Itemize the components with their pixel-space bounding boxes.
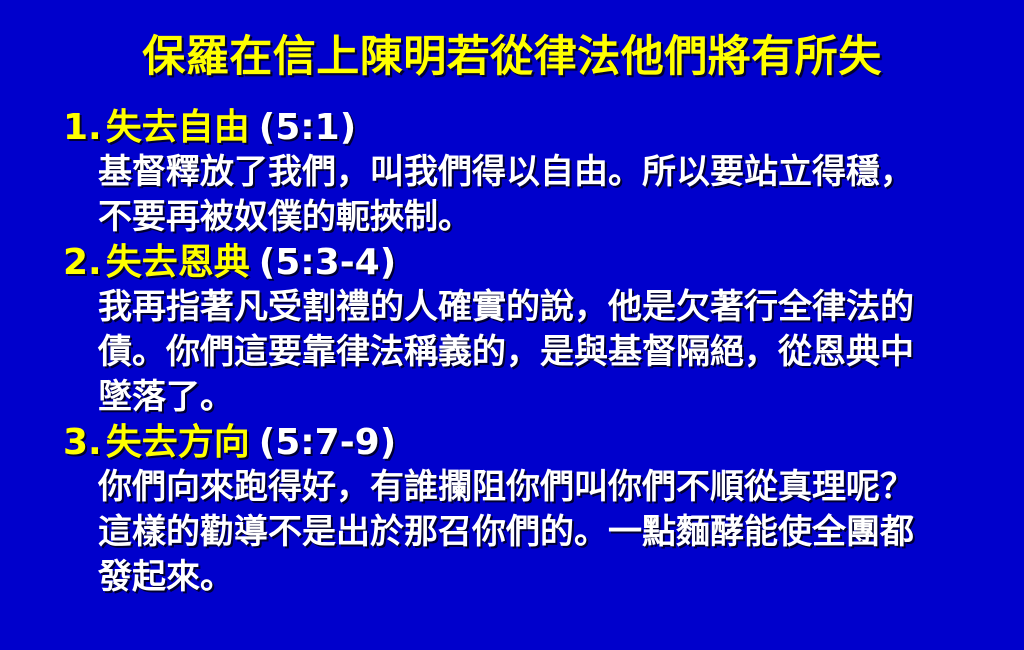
body-line: 基督釋放了我們，叫我們得以自由。所以要站立得穩， xyxy=(98,150,978,195)
body-line: 我再指著凡受割禮的人確實的說，他是欠著行全律法的 xyxy=(98,285,978,330)
point-heading: 3.失去方向(5:7-9) xyxy=(0,420,1024,465)
list-item: 3.失去方向(5:7-9) 你們向來跑得好，有誰攔阻你們叫你們不順從真理呢？ 這… xyxy=(0,420,1024,600)
points-list: 1.失去自由(5:1) 基督釋放了我們，叫我們得以自由。所以要站立得穩， 不要再… xyxy=(0,105,1024,600)
list-item: 1.失去自由(5:1) 基督釋放了我們，叫我們得以自由。所以要站立得穩， 不要再… xyxy=(0,105,1024,240)
point-reference: (5:3-4) xyxy=(259,242,396,283)
point-body: 你們向來跑得好，有誰攔阻你們叫你們不順從真理呢？ 這樣的勸導不是出於那召你們的。… xyxy=(0,465,1024,600)
point-number: 1. xyxy=(63,107,102,148)
point-number: 3. xyxy=(63,422,102,463)
body-line: 墜落了。 xyxy=(98,375,978,420)
list-item: 2.失去恩典(5:3-4) 我再指著凡受割禮的人確實的說，他是欠著行全律法的 債… xyxy=(0,240,1024,420)
point-title: 失去自由 xyxy=(106,107,250,148)
point-body: 我再指著凡受割禮的人確實的說，他是欠著行全律法的 債。你們這要靠律法稱義的，是與… xyxy=(0,285,1024,420)
point-reference: (5:7-9) xyxy=(259,422,396,463)
body-line: 不要再被奴僕的軛挾制。 xyxy=(98,195,978,240)
point-body: 基督釋放了我們，叫我們得以自由。所以要站立得穩， 不要再被奴僕的軛挾制。 xyxy=(0,150,1024,240)
slide-title: 保羅在信上陳明若從律法他們將有所失 xyxy=(0,34,1024,81)
point-title: 失去恩典 xyxy=(106,242,250,283)
point-heading: 2.失去恩典(5:3-4) xyxy=(0,240,1024,285)
body-line: 你們向來跑得好，有誰攔阻你們叫你們不順從真理呢？ xyxy=(98,465,978,510)
point-heading: 1.失去自由(5:1) xyxy=(0,105,1024,150)
presentation-slide: 保羅在信上陳明若從律法他們將有所失 1.失去自由(5:1) 基督釋放了我們，叫我… xyxy=(0,0,1024,650)
body-line: 這樣的勸導不是出於那召你們的。一點麵酵能使全團都 xyxy=(98,510,978,555)
point-number: 2. xyxy=(63,242,102,283)
body-line: 債。你們這要靠律法稱義的，是與基督隔絕，從恩典中 xyxy=(98,330,978,375)
point-title: 失去方向 xyxy=(106,422,250,463)
point-reference: (5:1) xyxy=(259,107,356,148)
body-line: 發起來。 xyxy=(98,555,978,600)
